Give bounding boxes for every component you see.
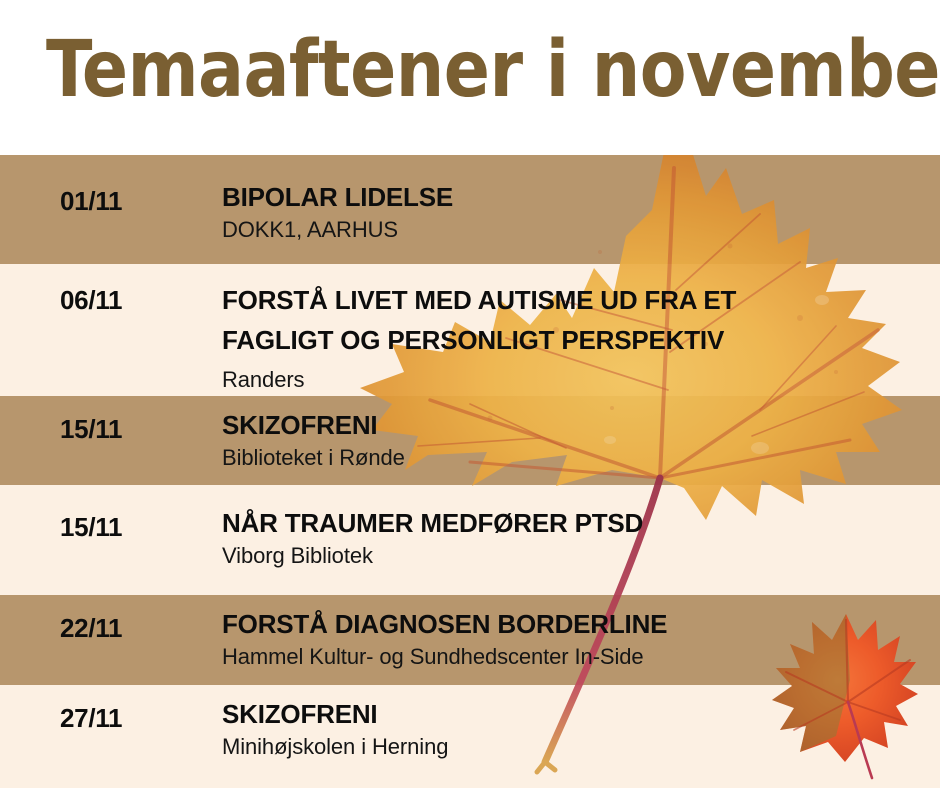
event-row-4: 15/11 NÅR TRAUMER MEDFØRER PTSD Viborg B… [0, 485, 940, 595]
poster: Temaaftener i november 01/11 BIPOLAR LID… [0, 0, 940, 788]
event-title: SKIZOFRENI [222, 698, 930, 731]
event-venue: Hammel Kultur- og Sundhedscenter In-Side [222, 643, 930, 671]
event-body: BIPOLAR LIDELSE DOKK1, AARHUS [222, 181, 930, 244]
event-row-5: 22/11 FORSTÅ DIAGNOSEN BORDERLINE Hammel… [0, 595, 940, 685]
event-body: SKIZOFRENI Biblioteket i Rønde [222, 409, 930, 472]
event-title: FORSTÅ LIVET MED AUTISME UD FRA ET FAGLI… [222, 280, 930, 360]
event-date: 15/11 [60, 512, 210, 542]
event-title: BIPOLAR LIDELSE [222, 181, 930, 214]
event-body: NÅR TRAUMER MEDFØRER PTSD Viborg Bibliot… [222, 507, 930, 570]
event-title: NÅR TRAUMER MEDFØRER PTSD [222, 507, 930, 540]
event-row-2: 06/11 FORSTÅ LIVET MED AUTISME UD FRA ET… [0, 264, 940, 396]
event-row-6: 27/11 SKIZOFRENI Minihøjskolen i Herning [0, 685, 940, 788]
event-venue: Randers [222, 366, 930, 394]
event-venue: Viborg Bibliotek [222, 542, 930, 570]
event-venue: Biblioteket i Rønde [222, 444, 930, 472]
event-row-3: 15/11 SKIZOFRENI Biblioteket i Rønde [0, 396, 940, 485]
event-venue: Minihøjskolen i Herning [222, 733, 930, 761]
event-body: FORSTÅ DIAGNOSEN BORDERLINE Hammel Kultu… [222, 608, 930, 671]
event-body: SKIZOFRENI Minihøjskolen i Herning [222, 698, 930, 761]
title-area: Temaaftener i november [0, 0, 940, 155]
event-date: 22/11 [60, 613, 210, 643]
event-date: 15/11 [60, 414, 210, 444]
event-title: FORSTÅ DIAGNOSEN BORDERLINE [222, 608, 930, 641]
event-date: 01/11 [60, 186, 210, 216]
event-row-1: 01/11 BIPOLAR LIDELSE DOKK1, AARHUS [0, 155, 940, 264]
event-body: FORSTÅ LIVET MED AUTISME UD FRA ET FAGLI… [222, 280, 930, 394]
event-venue: DOKK1, AARHUS [222, 216, 930, 244]
event-date: 27/11 [60, 703, 210, 733]
event-date: 06/11 [60, 285, 210, 315]
event-title: SKIZOFRENI [222, 409, 930, 442]
page-title: Temaaftener i november [46, 22, 940, 118]
